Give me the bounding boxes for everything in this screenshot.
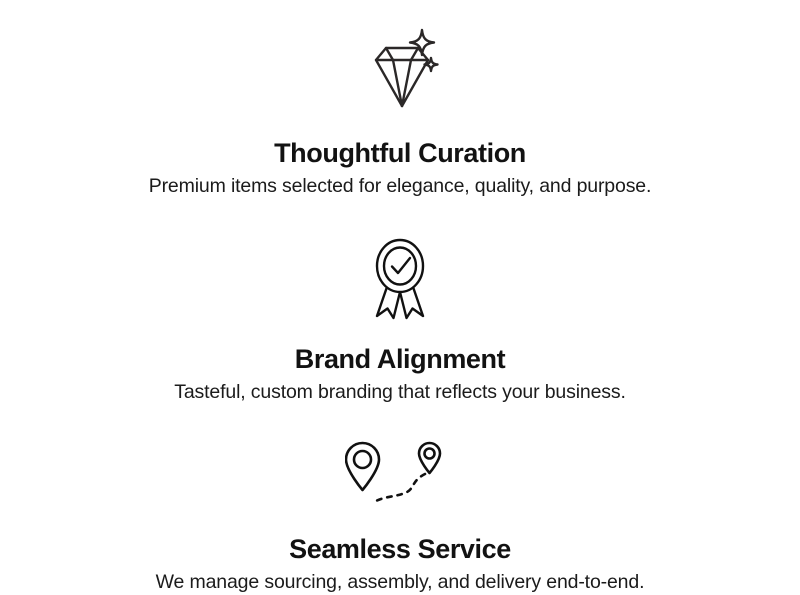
feature-title: Thoughtful Curation [274,137,526,169]
award-ribbon-check-icon [355,234,445,322]
route-map-pins-icon [345,441,455,511]
feature-description: Tasteful, custom branding that reflects … [174,379,625,405]
feature-card-brand-alignment: Brand Alignment Tasteful, custom brandin… [0,199,800,405]
feature-title: Seamless Service [289,533,511,565]
feature-title: Brand Alignment [295,343,506,375]
features-section: Thoughtful Curation Premium items select… [0,0,800,562]
feature-card-thoughtful-curation: Thoughtful Curation Premium items select… [0,14,800,199]
feature-description: Premium items selected for elegance, qua… [149,173,652,199]
diamond-sparkle-icon [352,26,448,118]
feature-description: We manage sourcing, assembly, and delive… [156,569,645,595]
feature-card-seamless-service: Seamless Service We manage sourcing, ass… [0,405,800,595]
